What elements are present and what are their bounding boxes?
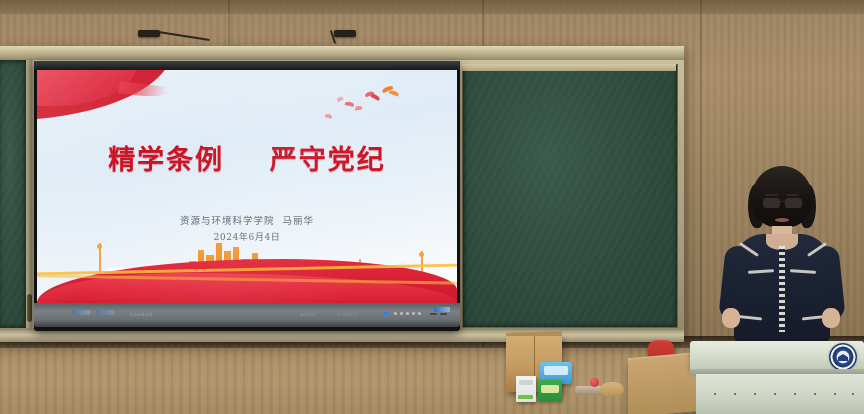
mouth: [775, 218, 789, 222]
wall-bracket-icon: [334, 30, 356, 37]
wall-top-strip: [0, 0, 864, 14]
bezel-badge: [434, 307, 450, 312]
green-product-box[interactable]: [538, 380, 562, 401]
presentation-screen[interactable]: 精学条例 严守党纪 资源与环境科学学院 马丽华 2024年6月4日: [37, 70, 457, 303]
usb-port[interactable]: [430, 313, 437, 315]
lens-right: [785, 198, 802, 208]
display-bezel-bottom: SOURCE SEEWO MENU POWER: [34, 303, 460, 327]
speaker-person: [718, 166, 846, 342]
button-placket: [779, 246, 785, 332]
white-product-box[interactable]: [516, 376, 536, 402]
hand-right: [822, 308, 840, 328]
hdmi-port[interactable]: [440, 313, 447, 315]
chalkboard-panel-left[interactable]: [0, 60, 26, 328]
bezel-sticker-2: [96, 310, 114, 315]
eyebrow-left: [765, 194, 778, 196]
display-bezel-top: [34, 61, 460, 70]
lectern-vent-holes: [714, 393, 854, 397]
dove-icon: [355, 105, 363, 110]
chalkboard-panel-right[interactable]: [462, 64, 678, 328]
red-cap-item[interactable]: [590, 378, 599, 387]
dove-icon: [345, 101, 355, 107]
power-button[interactable]: [394, 312, 397, 315]
bezel-power-label: POWER: [338, 312, 358, 317]
volume-up-button[interactable]: [406, 312, 409, 315]
classroom-scene: 精学条例 严守党纪 资源与环境科学学院 马丽华 2024年6月4日: [0, 0, 864, 414]
power-led: [384, 312, 388, 315]
eyebrow-right: [786, 194, 799, 196]
dove-icon: [336, 96, 343, 102]
hand-left: [722, 308, 740, 328]
box-window: [544, 366, 568, 375]
lectern[interactable]: [690, 341, 864, 414]
volume-down-button[interactable]: [412, 312, 415, 315]
dove-icon: [371, 93, 381, 101]
university-emblem-icon: [829, 343, 857, 371]
slide-title: 精学条例 严守党纪: [37, 138, 457, 177]
dove-icon: [325, 113, 333, 119]
source-button[interactable]: [418, 312, 421, 315]
bezel-model-label: SOURCE: [130, 312, 153, 317]
frame-bottom-rail: [0, 330, 684, 342]
box-label-bar: [518, 395, 533, 399]
beige-item[interactable]: [600, 382, 624, 396]
slide-subtitle-org: 资源与环境科学学院 马丽华: [37, 213, 457, 227]
board-handle[interactable]: [27, 294, 32, 322]
wall-bracket-icon: [138, 30, 160, 37]
lens-left: [763, 198, 780, 208]
glasses-bridge: [778, 201, 785, 202]
glasses-icon: [763, 198, 801, 207]
bezel-sticker: [72, 310, 90, 315]
smart-display[interactable]: 精学条例 严守党纪 资源与环境科学学院 马丽华 2024年6月4日: [34, 61, 460, 331]
dove-icon: [389, 89, 400, 96]
box-label-top: [519, 380, 533, 385]
panel-right-rail: [462, 64, 676, 71]
frame-top-rail: [0, 46, 684, 60]
bezel-menu-label: MENU: [300, 312, 316, 317]
menu-button[interactable]: [400, 312, 403, 315]
box-window: [541, 385, 559, 393]
